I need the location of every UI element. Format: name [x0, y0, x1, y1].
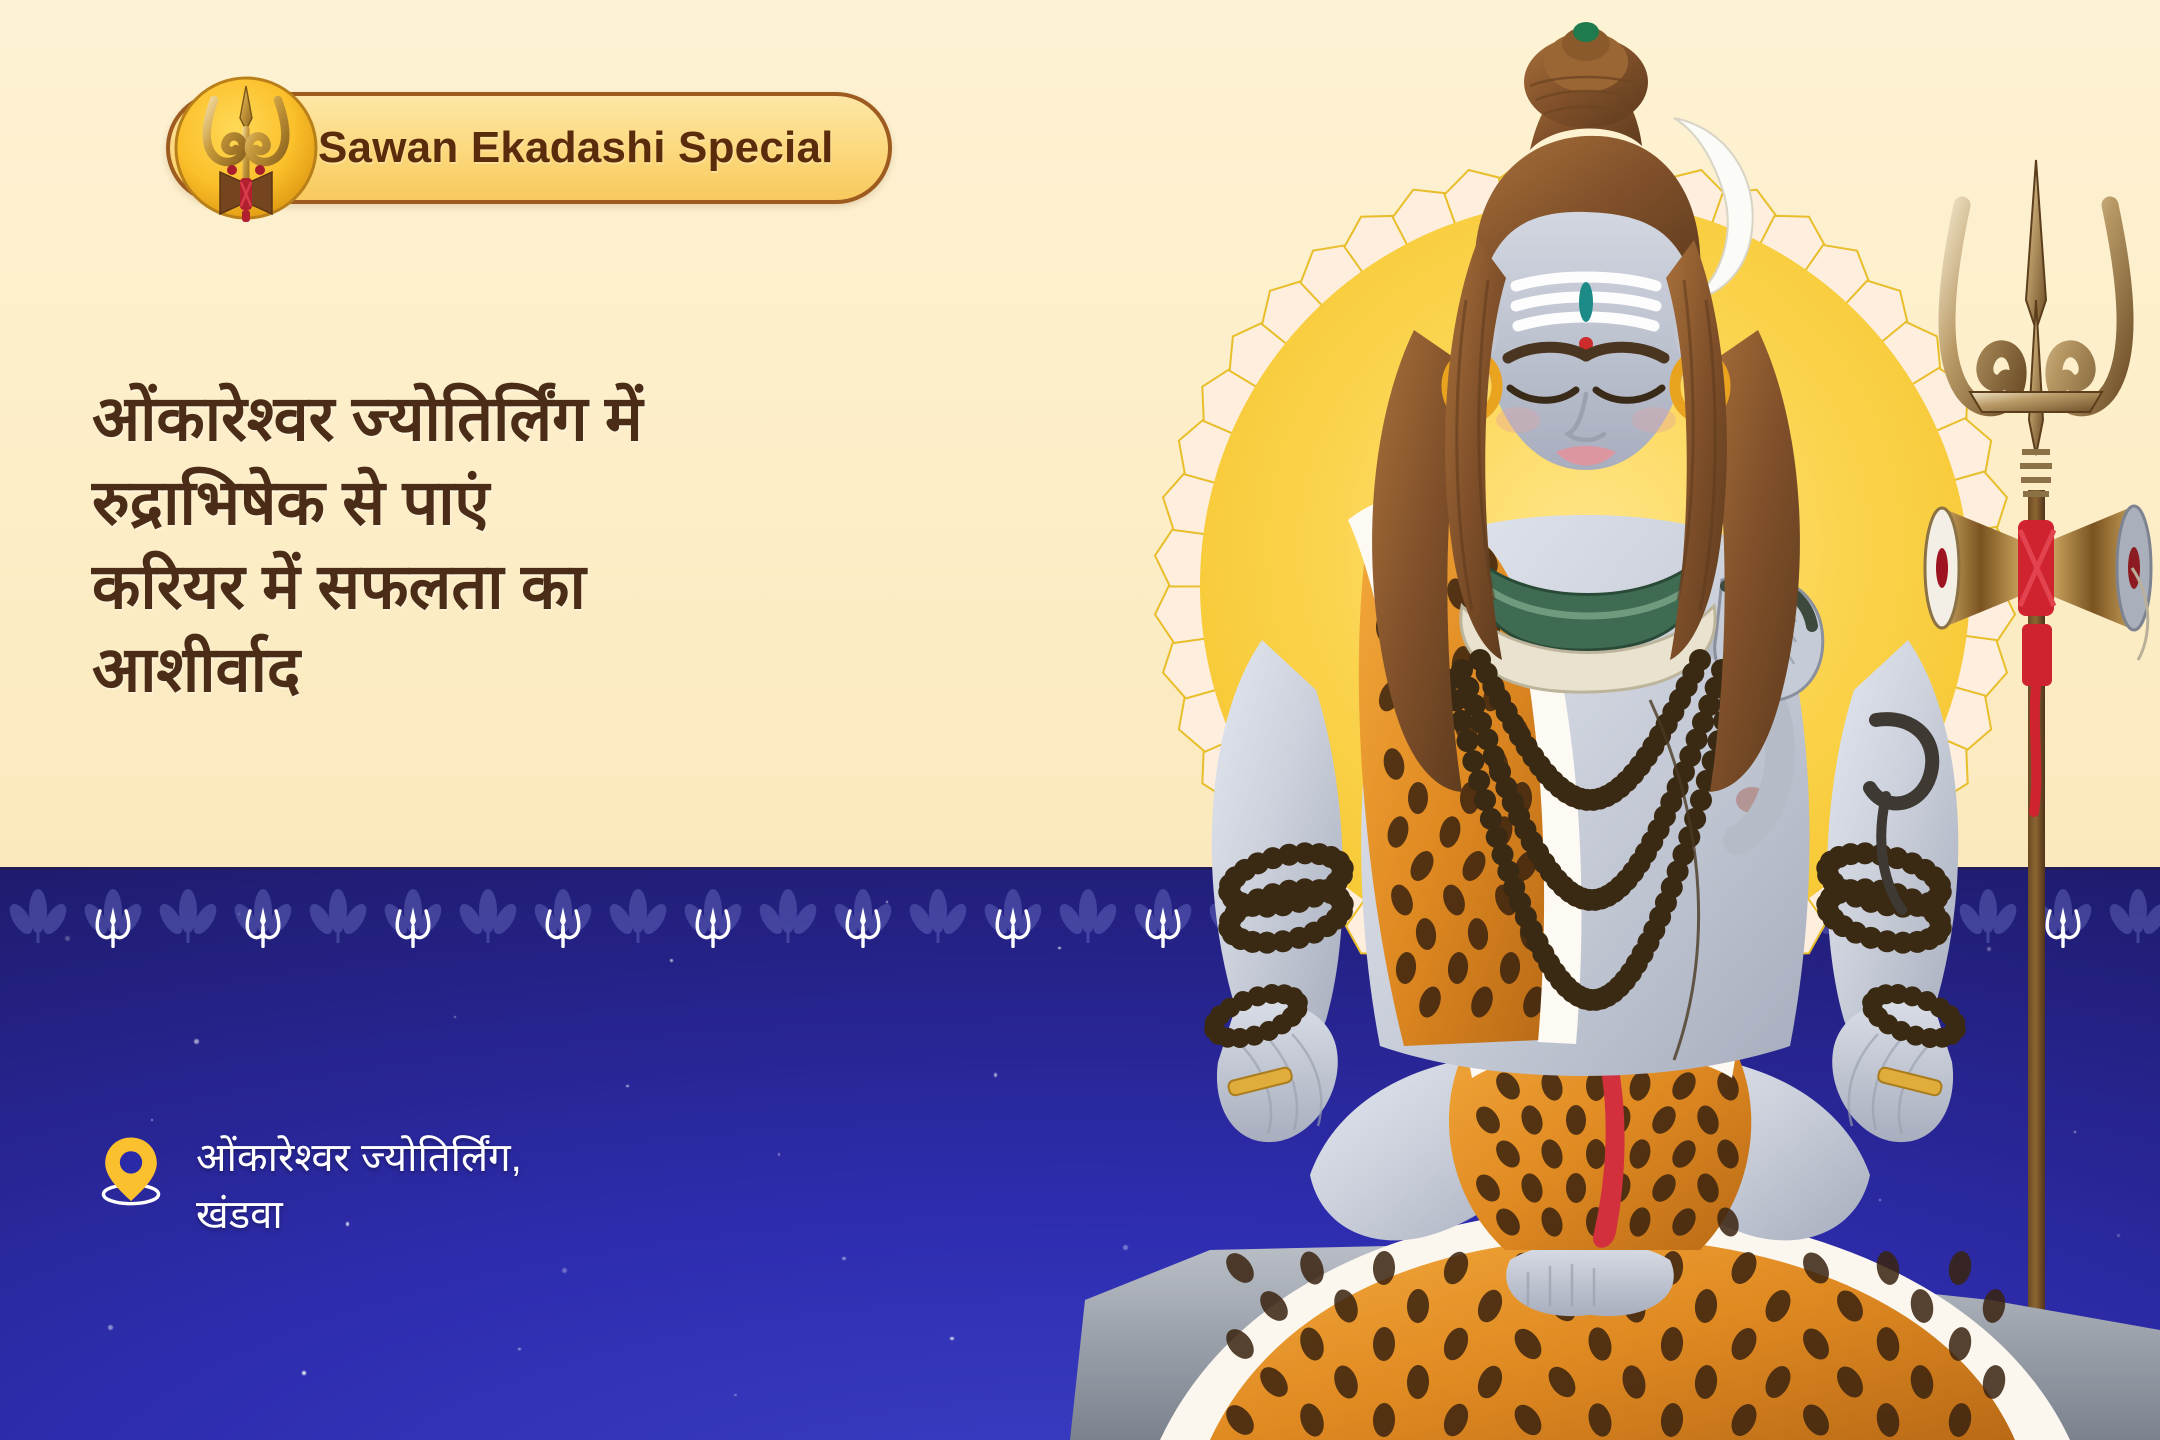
motif-cell	[675, 881, 750, 971]
motif-cell	[600, 881, 675, 971]
star	[108, 1325, 113, 1330]
star	[734, 1394, 736, 1396]
star	[842, 1257, 846, 1261]
star	[151, 1119, 153, 1121]
location-line-2: खंडवा	[196, 1193, 283, 1237]
star	[562, 1268, 567, 1273]
trishul-staff	[1925, 160, 2151, 1440]
headline-line-1: ओंकारेश्वर ज्योतिर्लिंग में	[92, 378, 1092, 462]
motif-cell	[525, 881, 600, 971]
badge-pill[interactable]: Sawan Ekadashi Special	[166, 92, 892, 204]
motif-cell	[300, 881, 375, 971]
star	[194, 1039, 199, 1044]
motif-cell	[225, 881, 300, 971]
rudraksha-bead	[1689, 649, 1711, 671]
star	[994, 1073, 998, 1077]
motif-cell	[375, 881, 450, 971]
tiger-spot	[1946, 1249, 1974, 1286]
headline-line-2: रुद्राभिषेक से पाएं	[92, 462, 1092, 546]
headline-line-4: आशीर्वाद	[92, 629, 1092, 713]
location-label: ओंकारेश्वर ज्योतिर्लिंग, खंडवा	[196, 1130, 522, 1244]
star	[302, 1371, 306, 1375]
rudraksha-bead	[1457, 730, 1479, 752]
rudraksha-bead	[1468, 770, 1490, 792]
shiva-illustration	[1010, 0, 2160, 1440]
promo-banner: Sawan Ekadashi Special ओंकारेश्वर ज्योति…	[0, 0, 2160, 1440]
location-block: ओंकारेश्वर ज्योतिर्लिंग, खंडवा	[100, 1130, 860, 1244]
star	[518, 1348, 520, 1350]
motif-cell	[75, 881, 150, 971]
motif-cell	[825, 881, 900, 971]
motif-cell	[450, 881, 525, 971]
rudraksha-bead	[1462, 750, 1484, 772]
motif-cell	[150, 881, 225, 971]
motif-cell	[0, 881, 75, 971]
rudraksha-bead	[1690, 789, 1712, 811]
page-title: ओंकारेश्वर ज्योतिर्लिंग में रुद्राभिषेक …	[92, 378, 1092, 713]
badge-label: Sawan Ekadashi Special	[318, 123, 834, 173]
star	[454, 1016, 456, 1018]
headline-line-3: करियर में सफलता का	[92, 546, 1092, 630]
star	[950, 1337, 954, 1341]
location-line-1: ओंकारेश्वर ज्योतिर्लिंग,	[196, 1136, 522, 1180]
trishul-damaru-icon	[170, 72, 322, 224]
star	[626, 1085, 628, 1087]
motif-cell	[900, 881, 975, 971]
motif-cell	[750, 881, 825, 971]
badge[interactable]: Sawan Ekadashi Special	[104, 78, 892, 218]
rudraksha-bead	[1474, 789, 1496, 811]
map-pin-icon	[100, 1134, 162, 1213]
